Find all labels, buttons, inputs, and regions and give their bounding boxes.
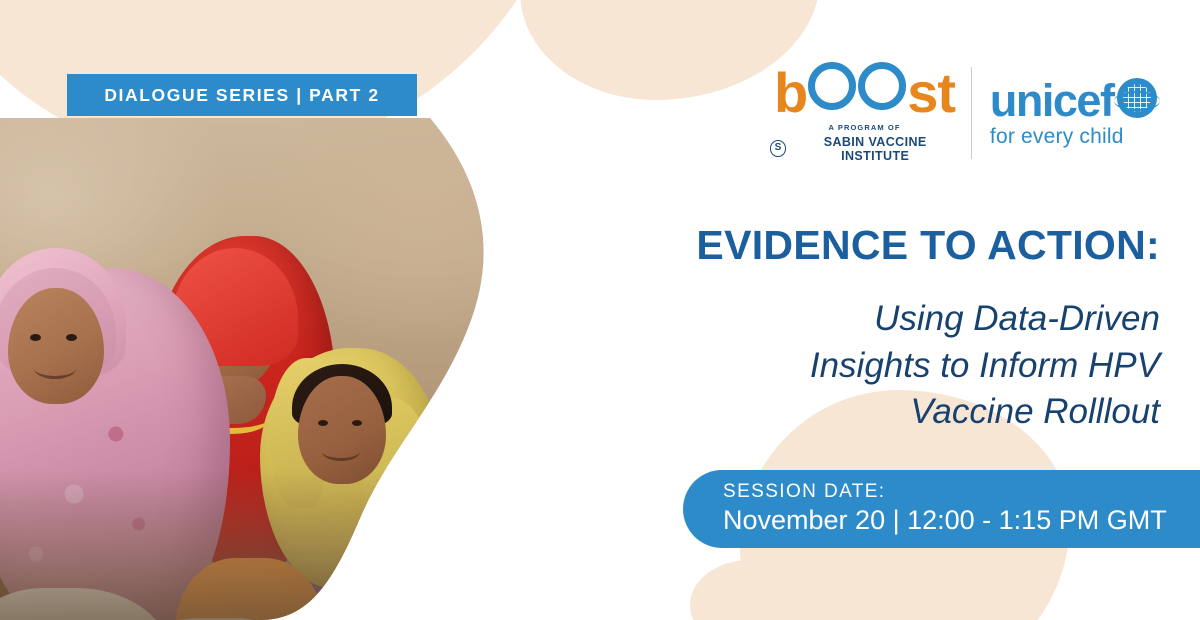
subtitle-line-2: Insights to Inform HPV <box>520 343 1160 390</box>
boost-wordmark: b st <box>770 64 959 121</box>
eye-icon <box>352 420 362 426</box>
unicef-logo: unicef for every child <box>990 78 1160 149</box>
boost-program-of-label: A PROGRAM OF <box>770 123 959 132</box>
ribbon-label: DIALOGUE SERIES | PART 2 <box>104 85 379 106</box>
subtitle-line-3: Vaccine Rolllout <box>520 389 1160 436</box>
boost-letter-b: b <box>774 65 807 121</box>
eye-icon <box>66 334 77 341</box>
sabin-s-icon <box>770 140 786 157</box>
unicef-globe-icon <box>1117 78 1157 118</box>
boost-double-o-icon <box>807 64 907 112</box>
unicef-text: unicef <box>990 78 1114 123</box>
logo-group: b st A PROGRAM OF SABIN VACCINE INSTITUT… <box>770 58 1160 168</box>
boost-letters-st: st <box>907 65 955 121</box>
figure-right-face <box>298 376 386 484</box>
sabin-text: SABIN VACCINE INSTITUTE <box>791 135 959 163</box>
sabin-vaccine-institute-label: SABIN VACCINE INSTITUTE <box>770 135 959 163</box>
smile-icon <box>322 442 360 461</box>
promo-banner: DIALOGUE SERIES | PART 2 b st A PROGRAM … <box>0 0 1200 620</box>
subtitle-line-1: Using Data-Driven <box>520 296 1160 343</box>
logo-divider <box>971 67 972 159</box>
eye-icon <box>318 420 328 426</box>
page-subtitle: Using Data-Driven Insights to Inform HPV… <box>520 296 1160 436</box>
figure-left-face <box>8 288 104 404</box>
page-title: EVIDENCE TO ACTION: <box>520 222 1160 269</box>
unicef-wordmark: unicef <box>990 78 1160 123</box>
hero-photo <box>0 118 520 620</box>
boost-logo: b st A PROGRAM OF SABIN VACCINE INSTITUT… <box>770 64 959 163</box>
eye-icon <box>30 334 41 341</box>
session-date-value: November 20 | 12:00 - 1:15 PM GMT <box>723 506 1200 536</box>
session-date-label: SESSION DATE: <box>723 482 1200 503</box>
dialogue-series-ribbon: DIALOGUE SERIES | PART 2 <box>67 74 417 116</box>
unicef-tagline: for every child <box>990 125 1160 149</box>
session-date-pill: SESSION DATE: November 20 | 12:00 - 1:15… <box>683 470 1200 548</box>
photo-ground-shadow <box>0 470 520 620</box>
smile-icon <box>34 358 76 379</box>
